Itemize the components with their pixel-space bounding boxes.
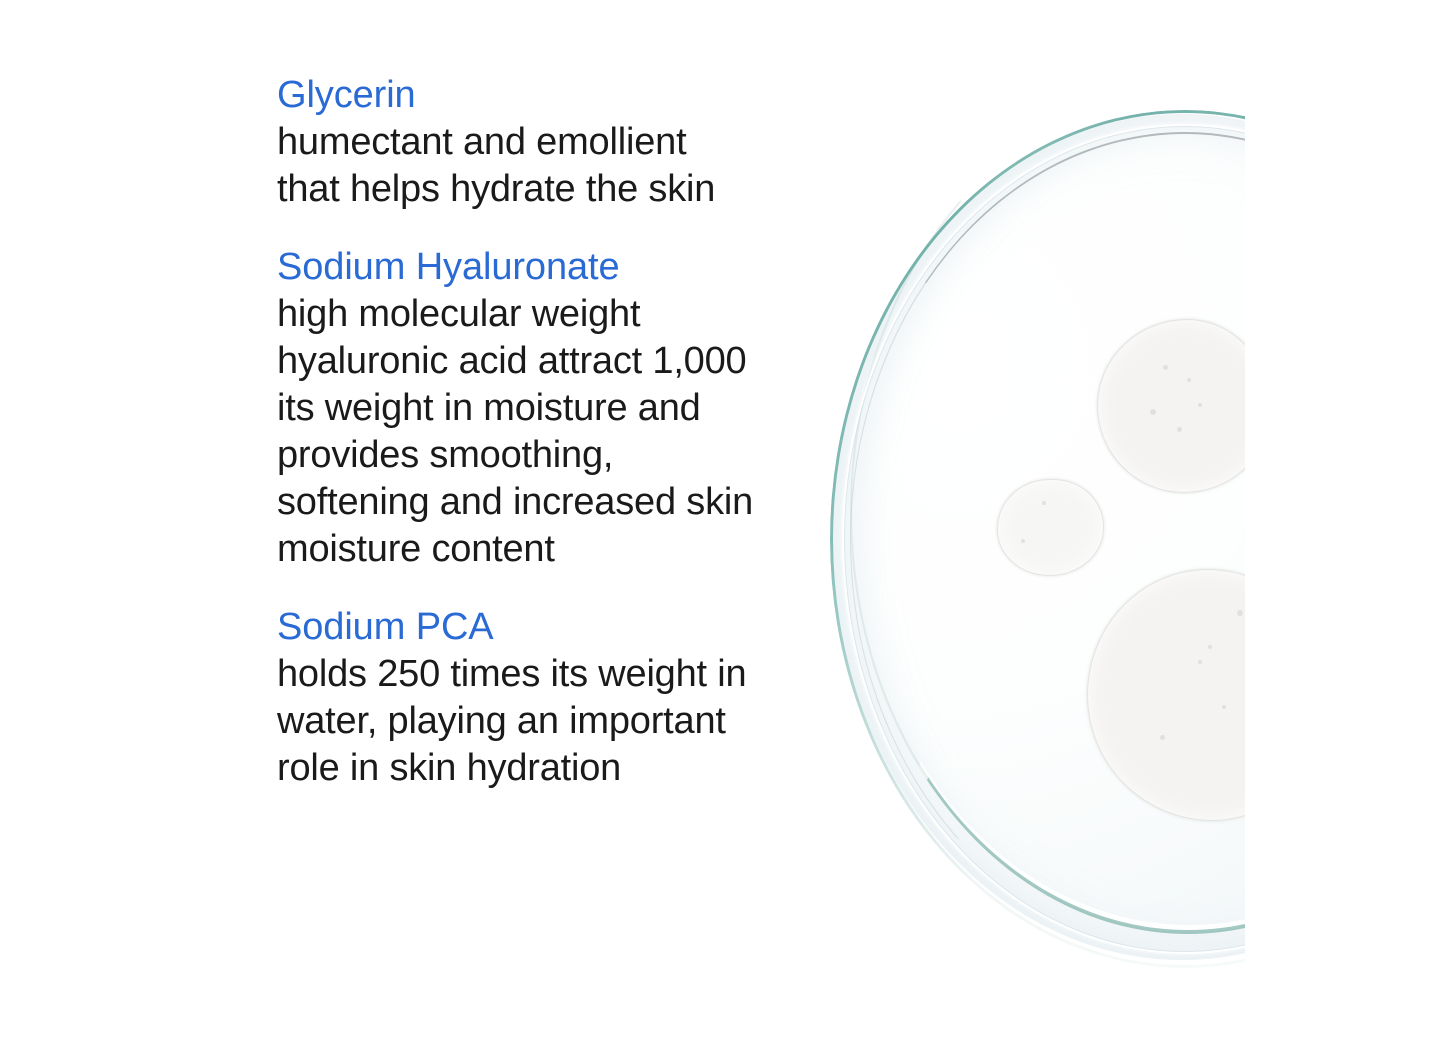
product-ingredient-infographic: Glycerin humectant and emollient that he… bbox=[0, 0, 1445, 1048]
description-line: provides smoothing, bbox=[277, 432, 822, 479]
description-line: its weight in moisture and bbox=[277, 385, 822, 432]
petri-dish-photo bbox=[820, 84, 1245, 989]
ingredient-block-glycerin: Glycerin humectant and emollient that he… bbox=[277, 72, 822, 213]
ingredient-description-sodium-hyaluronate: high molecular weight hyaluronic acid at… bbox=[277, 291, 822, 573]
ingredient-name-sodium-hyaluronate: Sodium Hyaluronate bbox=[277, 244, 822, 291]
description-line: holds 250 times its weight in bbox=[277, 651, 822, 698]
ingredient-block-sodium-hyaluronate: Sodium Hyaluronate high molecular weight… bbox=[277, 244, 822, 573]
description-line: moisture content bbox=[277, 526, 822, 573]
description-line: softening and increased skin bbox=[277, 479, 822, 526]
ingredient-description-glycerin: humectant and emollient that helps hydra… bbox=[277, 119, 822, 213]
ingredient-description-sodium-pca: holds 250 times its weight in water, pla… bbox=[277, 651, 822, 792]
description-line: high molecular weight bbox=[277, 291, 822, 338]
ingredient-name-glycerin: Glycerin bbox=[277, 72, 822, 119]
ingredient-name-sodium-pca: Sodium PCA bbox=[277, 604, 822, 651]
description-line: role in skin hydration bbox=[277, 745, 822, 792]
description-line: hyaluronic acid attract 1,000 bbox=[277, 338, 822, 385]
petri-dish-outer-glass-rim bbox=[830, 110, 1245, 968]
ingredients-panel: Glycerin humectant and emollient that he… bbox=[277, 72, 822, 792]
ingredient-block-sodium-pca: Sodium PCA holds 250 times its weight in… bbox=[277, 604, 822, 792]
description-line: water, playing an important bbox=[277, 698, 822, 745]
description-line: that helps hydrate the skin bbox=[277, 166, 822, 213]
description-line: humectant and emollient bbox=[277, 119, 822, 166]
